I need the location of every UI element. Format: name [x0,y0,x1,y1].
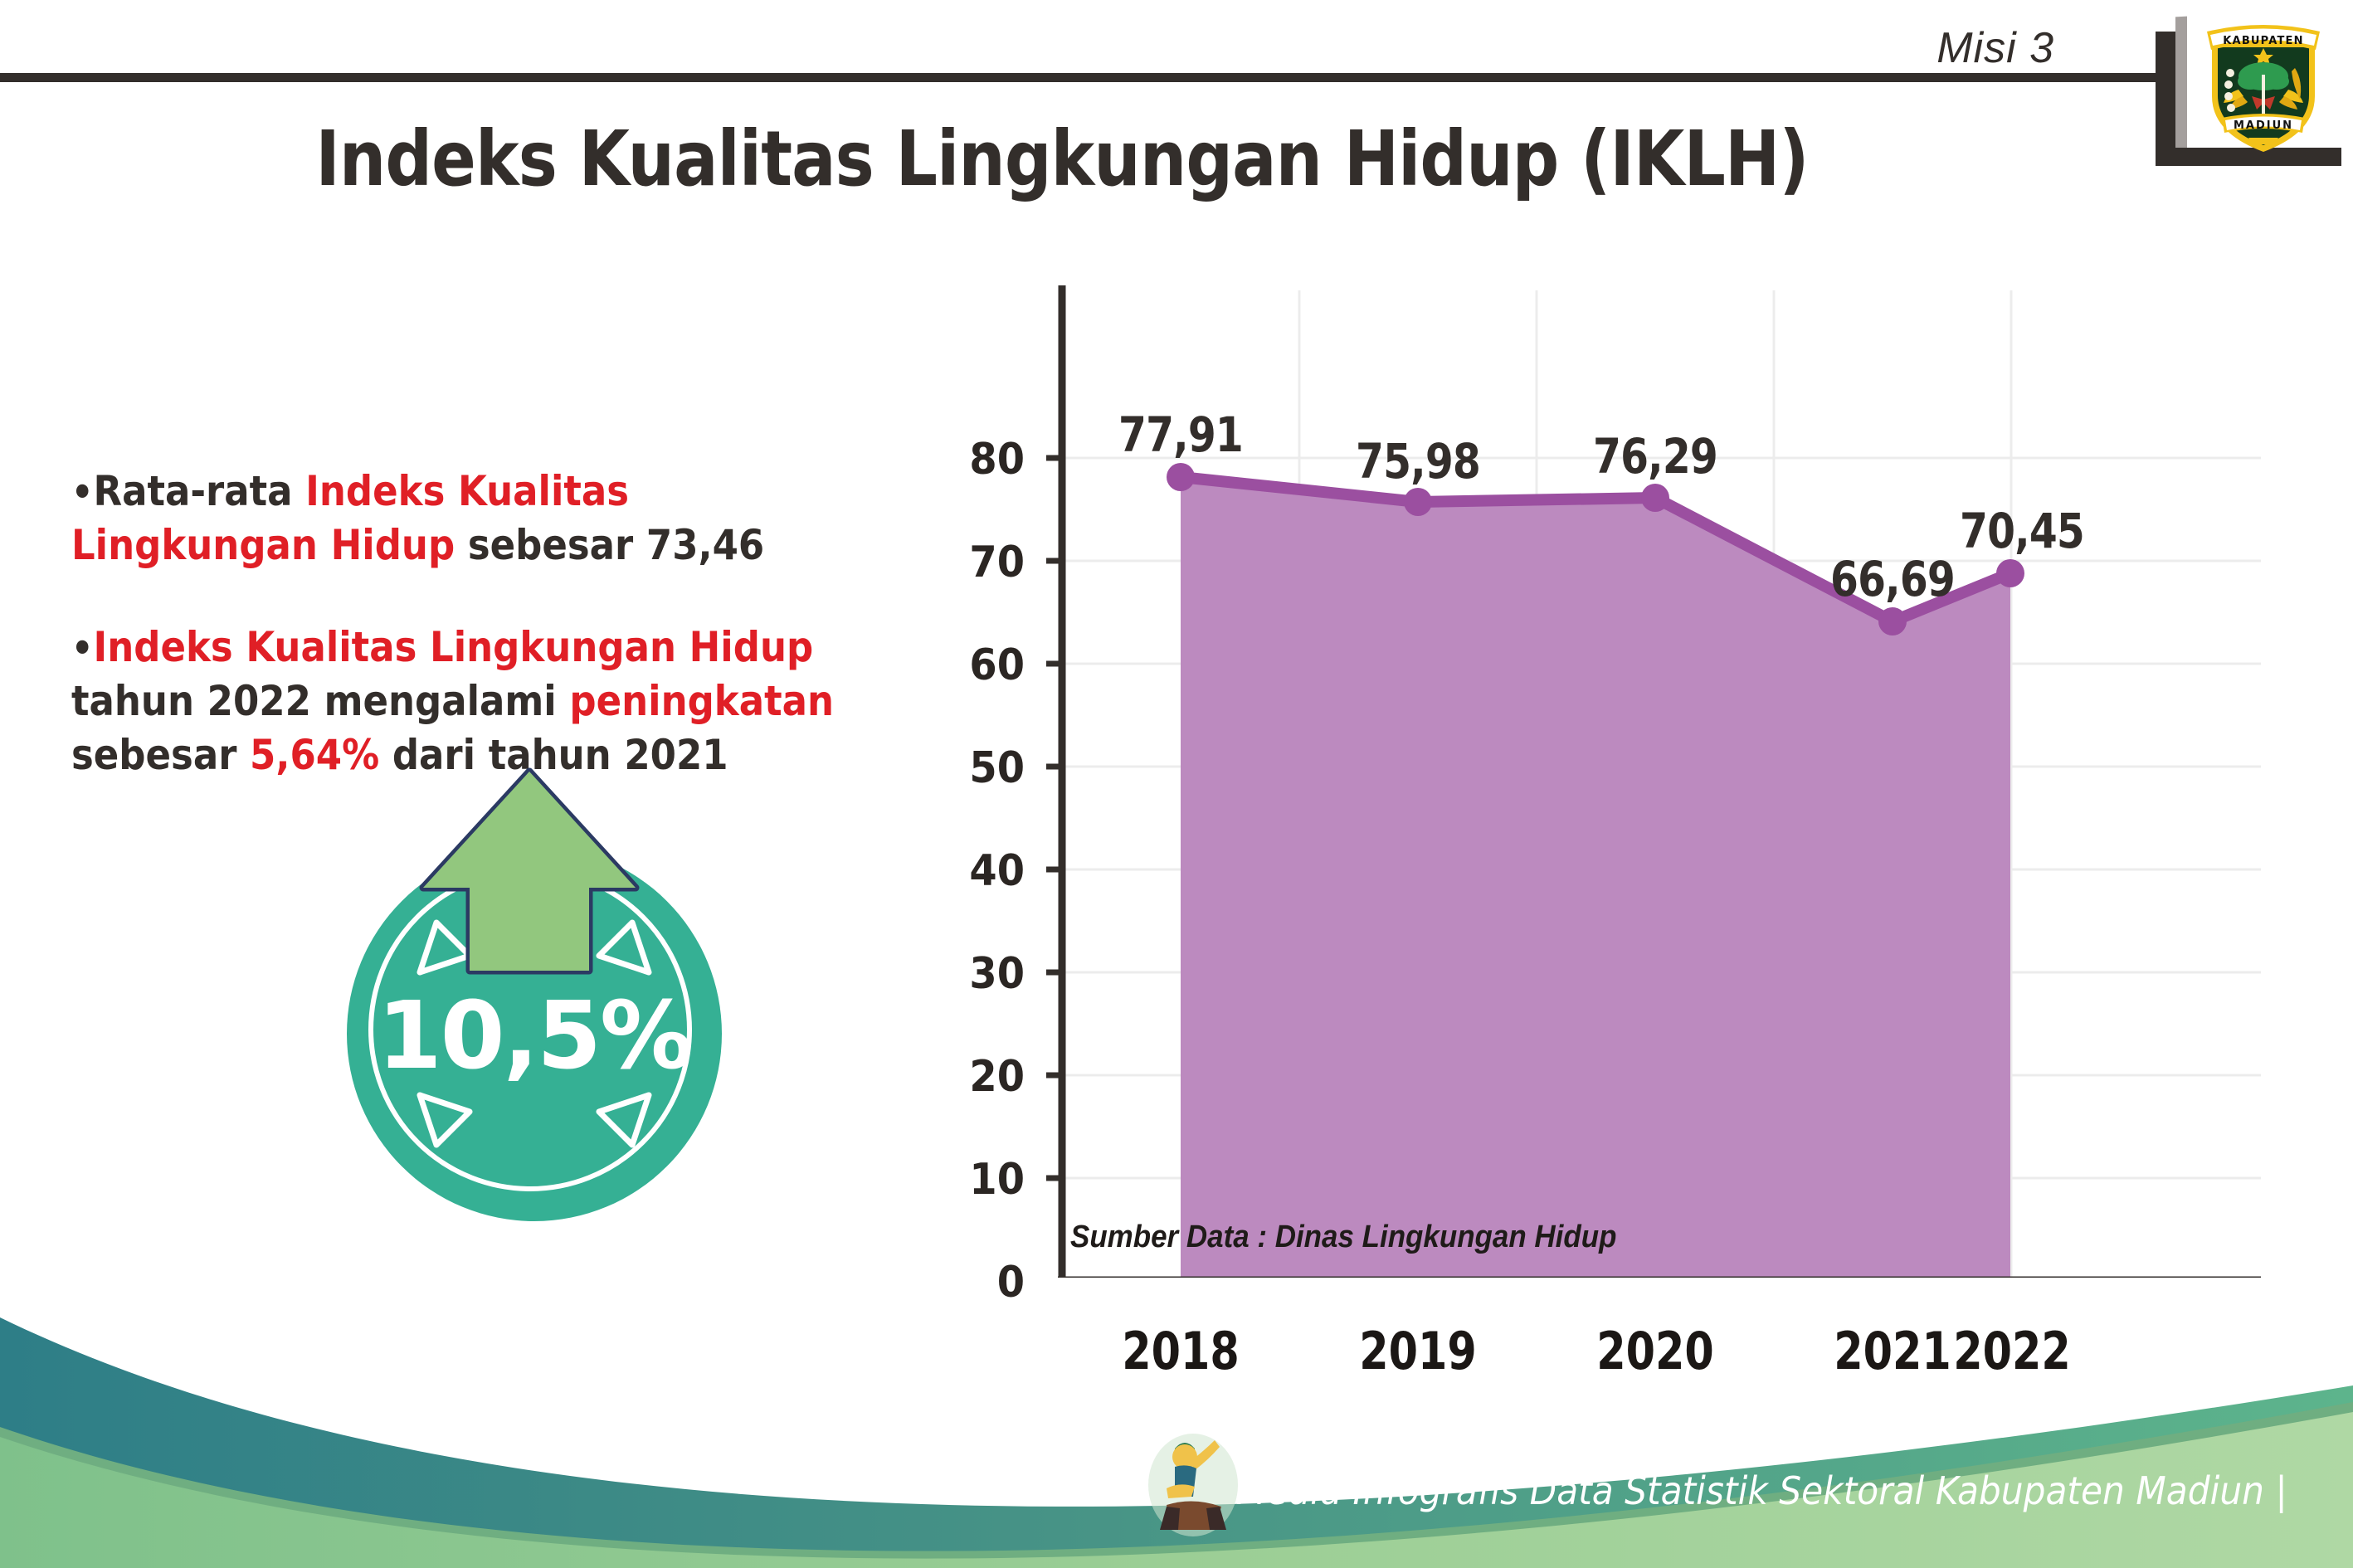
y-tick-label-40: 40 [941,846,1025,896]
slide-root: Misi 3 KABUPATEN MADIUN Indeks Kualitas … [0,0,2353,1568]
data-label-2018: 77,91 [1097,407,1264,463]
y-tick-label-50: 50 [941,743,1025,793]
data-label-2022: 70,45 [1938,503,2106,559]
svg-text:MADIUN: MADIUN [2234,119,2293,132]
list-item: •Rata-rata Indeks Kualitas Lingkungan Hi… [71,465,863,572]
logo-bracket-vertical [2156,32,2175,164]
misi-label: Misi 3 [1936,23,2054,73]
list-item: •Indeks Kualitas Lingkungan Hidup tahun … [71,621,863,782]
badge-value: 10,5% [347,982,722,1090]
bullet-dot: • [71,626,93,670]
footer-caption: Media Infografis Data Statistik Sektoral… [1236,1468,2287,1513]
data-label-2021: 66,69 [1809,551,1976,607]
increase-badge: 10,5% [330,765,762,1205]
svg-text:KABUPATEN: KABUPATEN [2223,35,2303,47]
y-tick-label-30: 30 [941,949,1025,999]
y-tick-label-10: 10 [941,1155,1025,1205]
media-infografis-figure-icon [1147,1432,1240,1540]
y-tick-label-20: 20 [941,1052,1025,1102]
bullet-2-seg-2: peningkatan [569,677,834,725]
y-tick-label-70: 70 [941,538,1025,587]
kabupaten-madiun-crest-icon: KABUPATEN MADIUN [2197,17,2330,156]
iklh-area-chart: 0 10 20 30 40 50 60 70 80 2018 2019 2020… [967,274,2261,1278]
bullet-1-seg-2: sebesar 73,46 [455,521,764,569]
data-label-2020: 76,29 [1571,428,1739,485]
bullet-2-seg-1: tahun 2022 mengalami [71,677,569,725]
y-tick-label-60: 60 [941,640,1025,690]
bullet-2-seg-0: Indeks Kualitas Lingkungan Hidup [93,623,813,671]
y-tick-label-80: 80 [941,435,1025,485]
page-title: Indeks Kualitas Lingkungan Hidup (IKLH) [149,114,1975,203]
bullet-2-seg-3: sebesar [71,731,250,779]
header-divider-rule [0,73,2167,82]
bullet-1-seg-0: Rata-rata [93,467,305,515]
chart-source-note: Sumber Data : Dinas Lingkungan Hidup [1070,1220,1616,1255]
bullet-dot: • [71,470,93,514]
data-label-2019: 75,98 [1334,433,1502,489]
logo-bracket-shadow [2175,17,2187,160]
